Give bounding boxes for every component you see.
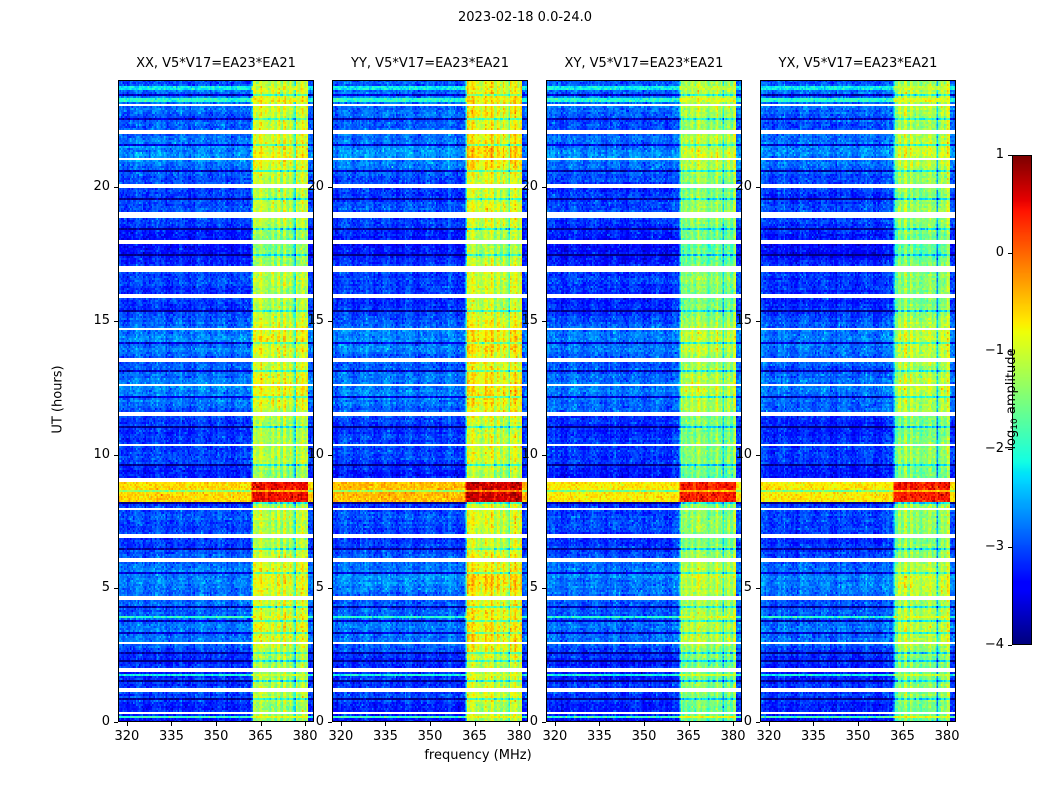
x-tick-label: 365	[241, 729, 281, 744]
x-tick-label: 320	[749, 729, 789, 744]
colorbar-tick-label: 0	[964, 245, 1004, 260]
x-tick-label: 350	[624, 729, 664, 744]
colorbar-tick	[1008, 253, 1012, 254]
colorbar-tick	[1008, 547, 1012, 548]
figure-canvas: 2023-02-18 0.0-24.0 XX, V5*V17=EA23*EA21…	[0, 0, 1050, 800]
y-tick	[542, 722, 546, 723]
x-tick	[127, 722, 128, 726]
y-tick-label: 20	[498, 179, 538, 194]
waterfall-image-xx	[118, 80, 314, 722]
y-tick-label: 0	[284, 714, 324, 729]
x-tick-label: 350	[838, 729, 878, 744]
x-tick	[769, 722, 770, 726]
y-tick	[756, 455, 760, 456]
y-tick	[328, 455, 332, 456]
y-tick	[114, 722, 118, 723]
colorbar-tick-label: −2	[964, 441, 1004, 456]
colorbar-tick-label: −1	[964, 343, 1004, 358]
y-tick	[114, 321, 118, 322]
x-tick-label: 335	[365, 729, 405, 744]
y-tick-label: 20	[70, 179, 110, 194]
y-tick-label: 20	[712, 179, 752, 194]
colorbar-tick-label: −3	[964, 539, 1004, 554]
y-tick-label: 0	[712, 714, 752, 729]
x-tick-label: 350	[196, 729, 236, 744]
x-tick	[813, 722, 814, 726]
x-tick	[171, 722, 172, 726]
y-tick	[542, 455, 546, 456]
waterfall-panel-xy	[546, 80, 742, 722]
y-axis-label: UT (hours)	[51, 320, 66, 480]
y-tick-label: 5	[70, 580, 110, 595]
y-tick	[114, 455, 118, 456]
x-tick-label: 335	[151, 729, 191, 744]
y-tick-label: 15	[70, 313, 110, 328]
y-tick-label: 10	[498, 447, 538, 462]
x-tick-label: 350	[410, 729, 450, 744]
x-tick	[341, 722, 342, 726]
x-tick-label: 380	[927, 729, 967, 744]
x-tick-label: 320	[535, 729, 575, 744]
y-tick	[328, 321, 332, 322]
y-tick-label: 10	[70, 447, 110, 462]
y-tick	[114, 187, 118, 188]
y-tick	[542, 588, 546, 589]
x-tick	[947, 722, 948, 726]
x-tick-label: 335	[579, 729, 619, 744]
y-tick-label: 0	[70, 714, 110, 729]
x-tick	[555, 722, 556, 726]
x-tick	[858, 722, 859, 726]
colorbar-tick-label: −4	[964, 637, 1004, 652]
y-tick-label: 5	[712, 580, 752, 595]
x-tick-label: 380	[285, 729, 325, 744]
waterfall-image-yy	[332, 80, 528, 722]
y-tick	[114, 588, 118, 589]
x-tick	[261, 722, 262, 726]
y-tick-label: 15	[498, 313, 538, 328]
x-tick	[903, 722, 904, 726]
x-tick	[475, 722, 476, 726]
y-tick-label: 5	[284, 580, 324, 595]
y-tick-label: 20	[284, 179, 324, 194]
waterfall-image-yx	[760, 80, 956, 722]
x-tick	[385, 722, 386, 726]
waterfall-image-xy	[546, 80, 742, 722]
y-tick-label: 5	[498, 580, 538, 595]
x-tick	[689, 722, 690, 726]
x-tick	[599, 722, 600, 726]
colorbar-tick-label: 1	[964, 147, 1004, 162]
panel-title-yx: YX, V5*V17=EA23*EA21	[720, 56, 996, 71]
y-tick	[542, 187, 546, 188]
x-tick-label: 320	[107, 729, 147, 744]
y-tick	[328, 187, 332, 188]
waterfall-panel-xx	[118, 80, 314, 722]
y-tick-label: 10	[284, 447, 324, 462]
y-tick	[542, 321, 546, 322]
y-tick	[756, 187, 760, 188]
x-tick-label: 320	[321, 729, 361, 744]
y-tick	[756, 588, 760, 589]
colorbar-label: log10 amplitude	[1004, 319, 1020, 479]
x-tick-label: 380	[499, 729, 539, 744]
y-tick-label: 10	[712, 447, 752, 462]
waterfall-panel-yy	[332, 80, 528, 722]
waterfall-panel-yx	[760, 80, 956, 722]
x-tick	[644, 722, 645, 726]
y-tick	[328, 722, 332, 723]
x-tick-label: 365	[669, 729, 709, 744]
figure-suptitle: 2023-02-18 0.0-24.0	[0, 10, 1050, 25]
x-tick-label: 365	[455, 729, 495, 744]
x-axis-label: frequency (MHz)	[0, 748, 956, 763]
y-tick-label: 15	[712, 313, 752, 328]
x-tick-label: 335	[793, 729, 833, 744]
y-tick-label: 0	[498, 714, 538, 729]
colorbar-tick	[1008, 645, 1012, 646]
x-tick-label: 380	[713, 729, 753, 744]
colorbar-tick	[1008, 155, 1012, 156]
x-tick-label: 365	[883, 729, 923, 744]
y-tick	[328, 588, 332, 589]
y-tick	[756, 321, 760, 322]
y-tick-label: 15	[284, 313, 324, 328]
x-tick	[216, 722, 217, 726]
x-tick	[430, 722, 431, 726]
y-tick	[756, 722, 760, 723]
